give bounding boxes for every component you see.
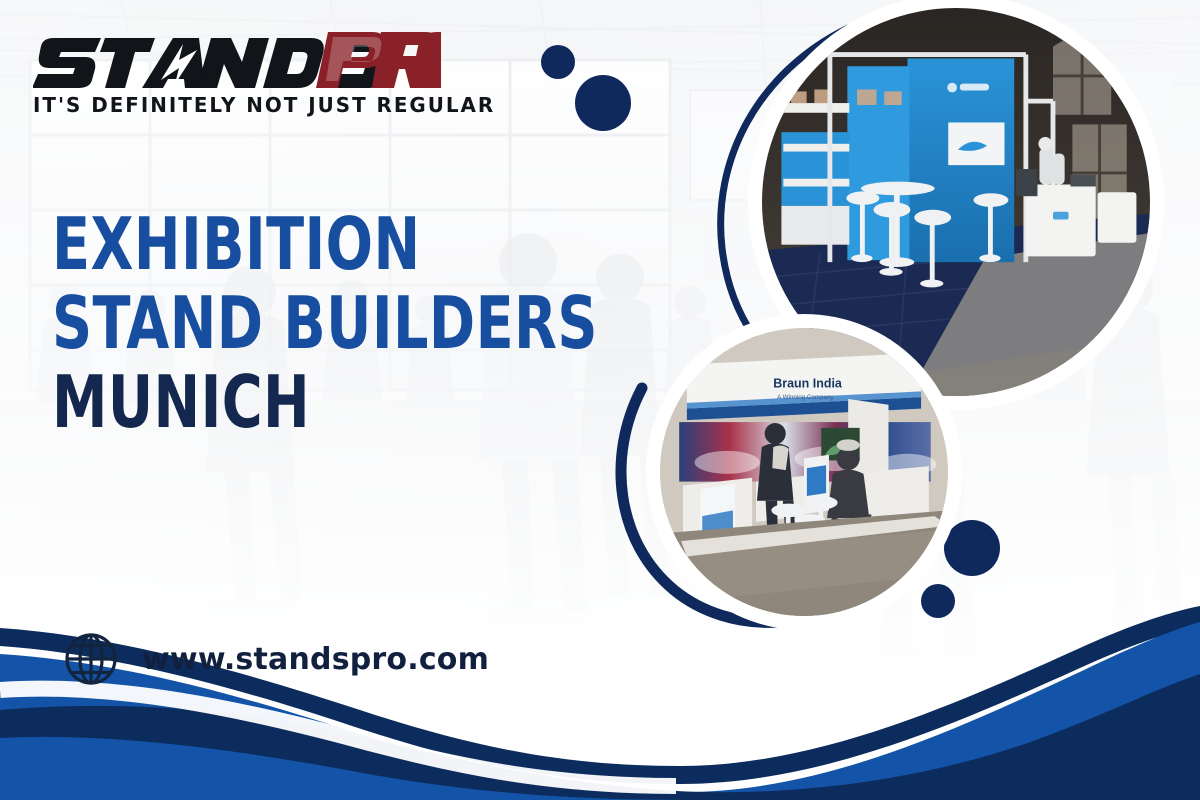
svg-text:A Winning Company: A Winning Company (777, 394, 834, 401)
page-title: EXHIBITION STAND BUILDERS MUNICH (52, 205, 687, 442)
globe-icon (62, 630, 120, 688)
standspro-logo-mark (33, 26, 441, 88)
headline-line-3: MUNICH (52, 363, 598, 442)
svg-text:Braun India: Braun India (773, 377, 843, 391)
decorative-dot-large-bottom (944, 520, 1000, 576)
brand-tagline: IT'S DEFINITELY NOT JUST REGULAR (33, 93, 440, 117)
website-url-text: www.standspro.com (142, 642, 489, 677)
decorative-dot-large-top (575, 75, 631, 131)
headline-line-1: EXHIBITION (52, 205, 598, 284)
brand-logo[interactable]: IT'S DEFINITELY NOT JUST REGULAR (33, 26, 453, 117)
headline-line-2: STAND BUILDERS (52, 284, 598, 363)
promo-banner: IT'S DEFINITELY NOT JUST REGULAR EXHIBIT… (0, 0, 1200, 800)
decorative-dot-small-top (541, 45, 575, 79)
website-link[interactable]: www.standspro.com (62, 630, 489, 688)
